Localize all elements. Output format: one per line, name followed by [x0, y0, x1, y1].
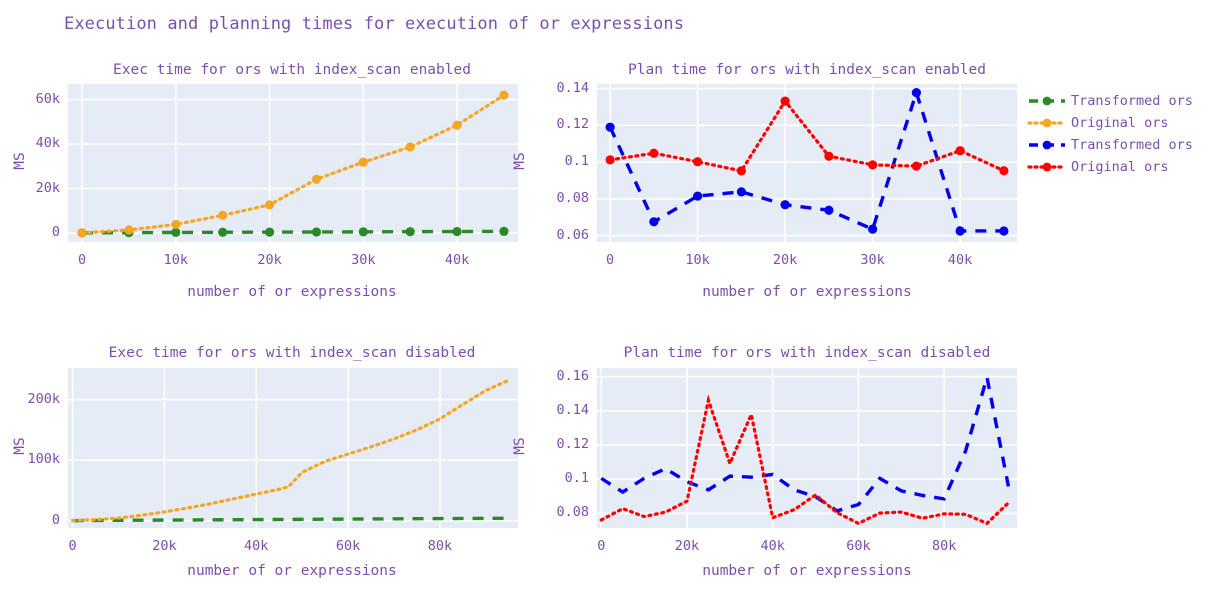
data-point: [171, 220, 180, 229]
x-axis-label: number of or expressions: [92, 284, 492, 300]
data-point: [693, 191, 702, 200]
data-point: [218, 211, 227, 220]
data-point: [606, 123, 615, 132]
data-point: [781, 96, 790, 105]
data-point: [265, 228, 274, 237]
data-point: [406, 142, 415, 151]
gridlines: [597, 368, 1017, 528]
gridlines: [597, 84, 1017, 242]
legend-swatch-icon: [1028, 137, 1066, 153]
y-tick-label: 200k: [0, 391, 60, 407]
x-tick-label: 80k: [904, 538, 984, 554]
series-original-ors-1: [77, 91, 508, 238]
y-tick-label: 100k: [0, 451, 60, 467]
x-tick-label: 10k: [136, 252, 216, 268]
x-tick-label: 60k: [308, 538, 388, 554]
data-point: [824, 206, 833, 215]
gridlines: [68, 84, 518, 242]
legend-item-1[interactable]: Original ors: [1028, 112, 1169, 134]
x-axis-label: number of or expressions: [92, 563, 492, 579]
y-tick-label: 0: [0, 512, 60, 528]
data-point: [737, 187, 746, 196]
x-tick-label: 40k: [920, 252, 1000, 268]
y-tick-label: 0.1: [529, 153, 589, 169]
legend-swatch-icon: [1028, 159, 1066, 175]
data-point: [868, 225, 877, 234]
y-tick-label: 40k: [0, 135, 60, 151]
data-point: [868, 160, 877, 169]
series-original-ors-1: [73, 380, 509, 520]
subplot-title: Plan time for ors with index_scan disabl…: [547, 345, 1067, 361]
x-tick-label: 0: [42, 252, 122, 268]
figure-title: Execution and planning times for executi…: [64, 14, 684, 34]
x-tick-label: 20k: [124, 538, 204, 554]
y-tick-label: 0.14: [529, 80, 589, 96]
data-point: [359, 158, 368, 167]
x-tick-label: 60k: [818, 538, 898, 554]
data-point: [499, 227, 508, 236]
legend-item-3[interactable]: Original ors: [1028, 156, 1169, 178]
legend-label: Transformed ors: [1071, 137, 1193, 153]
data-point: [649, 149, 658, 158]
data-point: [912, 162, 921, 171]
subplot-title: Exec time for ors with index_scan disabl…: [32, 345, 552, 361]
legend-item-2[interactable]: Transformed ors: [1028, 134, 1193, 156]
x-tick-label: 80k: [400, 538, 480, 554]
plot-canvas: [597, 368, 1017, 528]
x-tick-label: 30k: [833, 252, 913, 268]
data-point: [649, 217, 658, 226]
x-tick-label: 40k: [733, 538, 813, 554]
data-point: [77, 228, 86, 237]
data-point: [452, 227, 461, 236]
plot-canvas: [597, 84, 1017, 242]
y-axis-label: MS: [512, 416, 528, 476]
legend-swatch-icon: [1028, 115, 1066, 131]
y-tick-label: 0.06: [529, 227, 589, 243]
x-tick-label: 30k: [323, 252, 403, 268]
legend-label: Transformed ors: [1071, 93, 1193, 109]
x-axis-label: number of or expressions: [607, 563, 1007, 579]
data-point: [218, 228, 227, 237]
subplot-title: Plan time for ors with index_scan enable…: [547, 62, 1067, 78]
data-point: [171, 228, 180, 237]
legend-item-0[interactable]: Transformed ors: [1028, 90, 1193, 112]
data-point: [452, 121, 461, 130]
y-tick-label: 0.08: [529, 190, 589, 206]
legend-label: Original ors: [1071, 159, 1169, 175]
data-point: [737, 166, 746, 175]
series-transformed-ors-0: [601, 377, 1008, 510]
series-original-ors-1: [601, 400, 1008, 523]
x-tick-label: 20k: [647, 538, 727, 554]
y-tick-label: 0.1: [529, 470, 589, 486]
y-tick-label: 0.12: [529, 116, 589, 132]
legend-label: Original ors: [1071, 115, 1169, 131]
plot-canvas: [68, 84, 518, 242]
data-point: [606, 155, 615, 164]
y-tick-label: 0.14: [529, 402, 589, 418]
data-point: [781, 200, 790, 209]
data-point: [499, 91, 508, 100]
x-tick-label: 20k: [745, 252, 825, 268]
series-original-ors-1: [606, 96, 1009, 175]
data-point: [312, 175, 321, 184]
gridlines: [68, 368, 518, 528]
x-axis-label: number of or expressions: [607, 284, 1007, 300]
y-axis-label: MS: [12, 131, 28, 191]
y-tick-label: 0.16: [529, 368, 589, 384]
data-point: [312, 227, 321, 236]
data-point: [406, 227, 415, 236]
data-point: [359, 227, 368, 236]
x-tick-label: 0: [561, 538, 641, 554]
y-axis-label: MS: [512, 131, 528, 191]
data-point: [956, 146, 965, 155]
x-tick-label: 40k: [216, 538, 296, 554]
y-tick-label: 0: [0, 224, 60, 240]
data-point: [999, 226, 1008, 235]
x-tick-label: 40k: [417, 252, 497, 268]
x-tick-label: 0: [33, 538, 113, 554]
data-point: [265, 200, 274, 209]
y-tick-label: 60k: [0, 91, 60, 107]
y-axis-label: MS: [12, 416, 28, 476]
x-tick-label: 10k: [658, 252, 738, 268]
plot-canvas: [68, 368, 518, 528]
data-point: [999, 166, 1008, 175]
data-point: [912, 88, 921, 97]
y-tick-label: 20k: [0, 180, 60, 196]
data-point: [124, 225, 133, 234]
x-tick-label: 20k: [230, 252, 310, 268]
subplot-title: Exec time for ors with index_scan enable…: [32, 62, 552, 78]
figure-container: Execution and planning times for executi…: [0, 0, 1210, 608]
x-tick-label: 0: [570, 252, 650, 268]
y-tick-label: 0.08: [529, 504, 589, 520]
data-point: [956, 226, 965, 235]
data-point: [824, 152, 833, 161]
y-tick-label: 0.12: [529, 436, 589, 452]
data-point: [693, 157, 702, 166]
legend-swatch-icon: [1028, 93, 1066, 109]
